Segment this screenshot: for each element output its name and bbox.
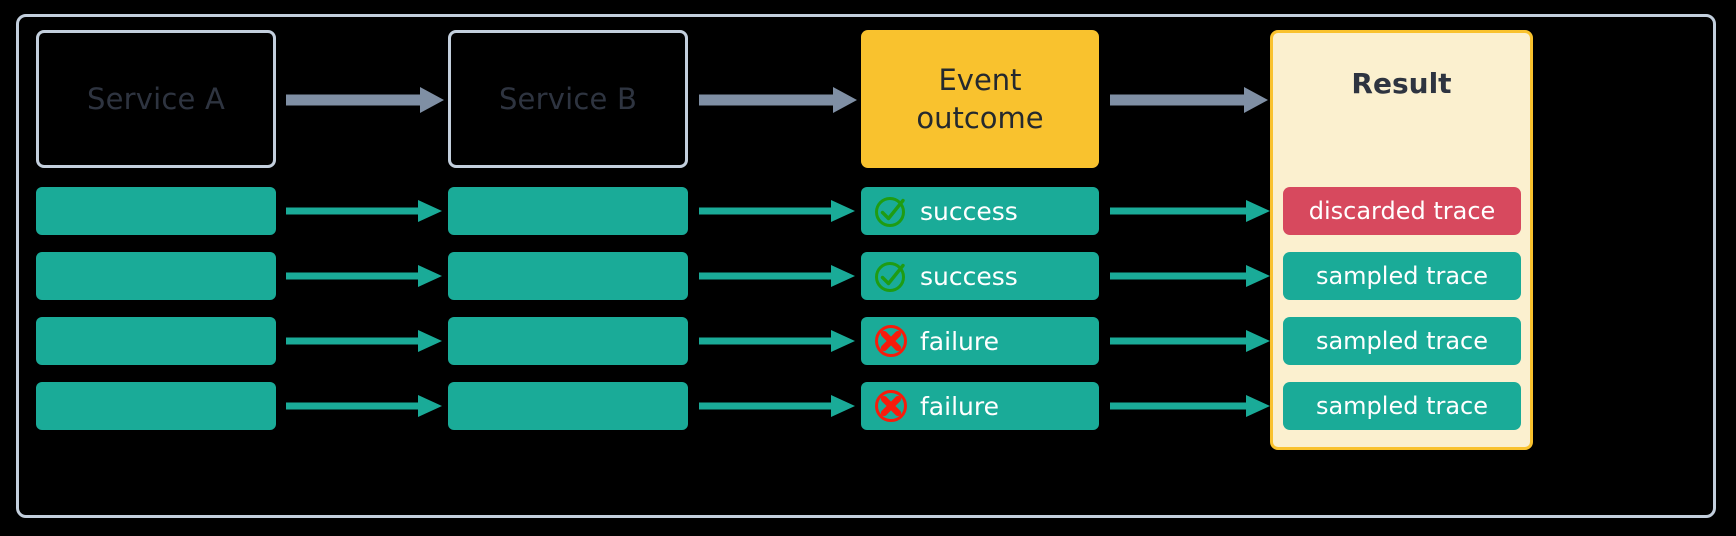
arrow-row4-b-to-outcome xyxy=(699,392,859,420)
outcome-label-row1: success xyxy=(920,197,1018,226)
outcome-label-row2: success xyxy=(920,262,1018,291)
check-circle-icon xyxy=(873,258,909,294)
outcome-label-row3: failure xyxy=(920,327,999,356)
arrow-header-b-to-event xyxy=(699,84,859,116)
span-bar-service-b-row2 xyxy=(448,252,688,300)
header-service-b-label: Service B xyxy=(499,82,637,116)
result-badge-row4: sampled trace xyxy=(1283,382,1521,430)
span-bar-service-a-row2 xyxy=(36,252,276,300)
arrow-row1-b-to-outcome xyxy=(699,197,859,225)
span-bar-service-b-row3 xyxy=(448,317,688,365)
outcome-pill-row1: success xyxy=(861,187,1099,235)
x-circle-icon xyxy=(873,323,909,359)
span-bar-service-b-row4 xyxy=(448,382,688,430)
result-badge-row3: sampled trace xyxy=(1283,317,1521,365)
header-event-outcome-line2: outcome xyxy=(916,99,1043,137)
arrow-header-a-to-b xyxy=(286,84,446,116)
outcome-label-row4: failure xyxy=(920,392,999,421)
x-circle-icon xyxy=(873,388,909,424)
arrow-row3-outcome-to-result xyxy=(1110,327,1274,355)
header-service-a-label: Service A xyxy=(87,82,225,116)
outcome-pill-row4: failure xyxy=(861,382,1099,430)
header-service-a: Service A xyxy=(36,30,276,168)
arrow-row3-b-to-outcome xyxy=(699,327,859,355)
arrow-row1-a-to-b xyxy=(286,197,446,225)
check-circle-icon xyxy=(873,193,909,229)
span-bar-service-a-row1 xyxy=(36,187,276,235)
trace-sampling-diagram: Service A Service B Event outcome Result… xyxy=(0,0,1736,536)
outcome-pill-row2: success xyxy=(861,252,1099,300)
result-badge-label-row2: sampled trace xyxy=(1316,262,1488,290)
result-badge-label-row1: discarded trace xyxy=(1309,197,1496,225)
result-badge-row2: sampled trace xyxy=(1283,252,1521,300)
arrow-row2-a-to-b xyxy=(286,262,446,290)
result-panel-title: Result xyxy=(1273,67,1530,100)
arrow-row2-outcome-to-result xyxy=(1110,262,1274,290)
arrow-row2-b-to-outcome xyxy=(699,262,859,290)
header-service-b: Service B xyxy=(448,30,688,168)
header-event-outcome-line1: Event xyxy=(938,61,1021,99)
arrow-row1-outcome-to-result xyxy=(1110,197,1274,225)
arrow-header-event-to-result xyxy=(1110,84,1270,116)
span-bar-service-a-row3 xyxy=(36,317,276,365)
header-event-outcome: Event outcome xyxy=(861,30,1099,168)
arrow-row3-a-to-b xyxy=(286,327,446,355)
result-badge-row1: discarded trace xyxy=(1283,187,1521,235)
span-bar-service-b-row1 xyxy=(448,187,688,235)
result-badge-label-row3: sampled trace xyxy=(1316,327,1488,355)
result-badge-label-row4: sampled trace xyxy=(1316,392,1488,420)
arrow-row4-outcome-to-result xyxy=(1110,392,1274,420)
outcome-pill-row3: failure xyxy=(861,317,1099,365)
span-bar-service-a-row4 xyxy=(36,382,276,430)
arrow-row4-a-to-b xyxy=(286,392,446,420)
